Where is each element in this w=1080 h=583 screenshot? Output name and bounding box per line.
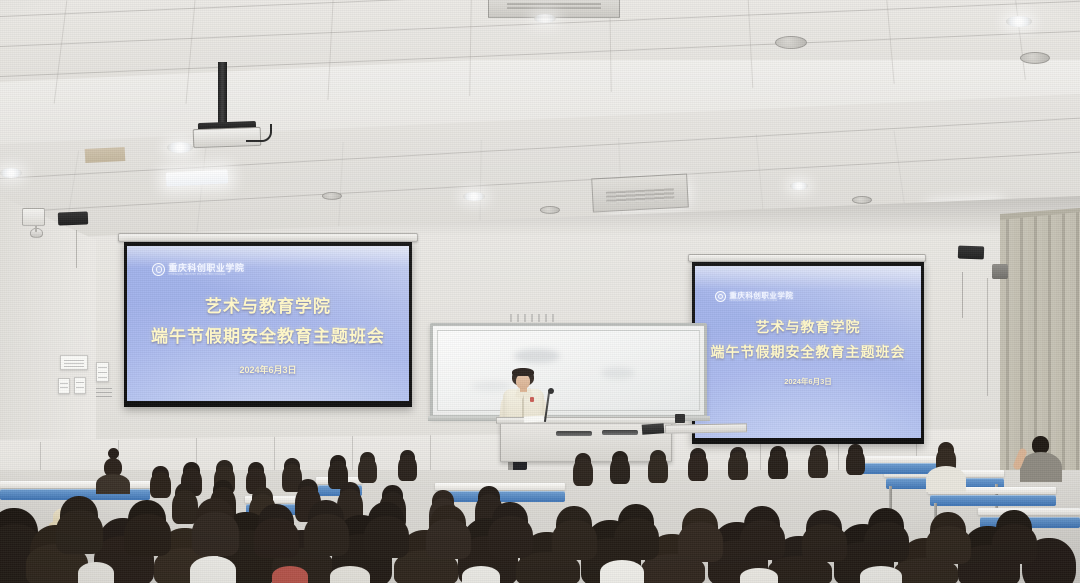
student-light-top [740, 568, 778, 583]
student-light-top [78, 562, 114, 583]
slide-title-line1: 艺术与教育学院 [205, 292, 331, 317]
seated-students [0, 0, 1080, 583]
institution-logo-text: 重庆科创职业学院 [729, 291, 793, 300]
institution-logo-subtext: CHONGQING INDUSTRY POLYTECHNIC COLLEGE [729, 300, 793, 303]
slide-title-line2: 端午节假期安全教育主题班会 [151, 322, 385, 347]
student-light-top [600, 560, 644, 583]
institution-seal-icon [152, 263, 165, 276]
slide-logo-left: 重庆科创职业学院 CHONGQING INDUSTRY POLYTECHNIC … [152, 263, 244, 276]
student-light-top [860, 566, 902, 583]
slide-date: 2024年6月3日 [239, 363, 296, 376]
slide-title-line1: 艺术与教育学院 [756, 317, 861, 337]
student-light-top [462, 566, 500, 583]
slide-title-line2: 端午节假期安全教育主题班会 [711, 342, 906, 362]
slide-logo-right: 重庆科创职业学院 CHONGQING INDUSTRY POLYTECHNIC … [715, 291, 793, 303]
institution-seal-icon [715, 291, 726, 302]
student-light-top [330, 566, 370, 583]
classroom-photograph: 重庆科创职业学院 CHONGQING INDUSTRY POLYTECHNIC … [0, 0, 1080, 583]
institution-logo-subtext: CHONGQING INDUSTRY POLYTECHNIC COLLEGE [168, 273, 244, 276]
slide-date: 2024年6月3日 [784, 376, 832, 387]
institution-logo-text: 重庆科创职业学院 [168, 263, 244, 273]
student-light-top [190, 556, 236, 583]
student-red-top [272, 566, 308, 583]
